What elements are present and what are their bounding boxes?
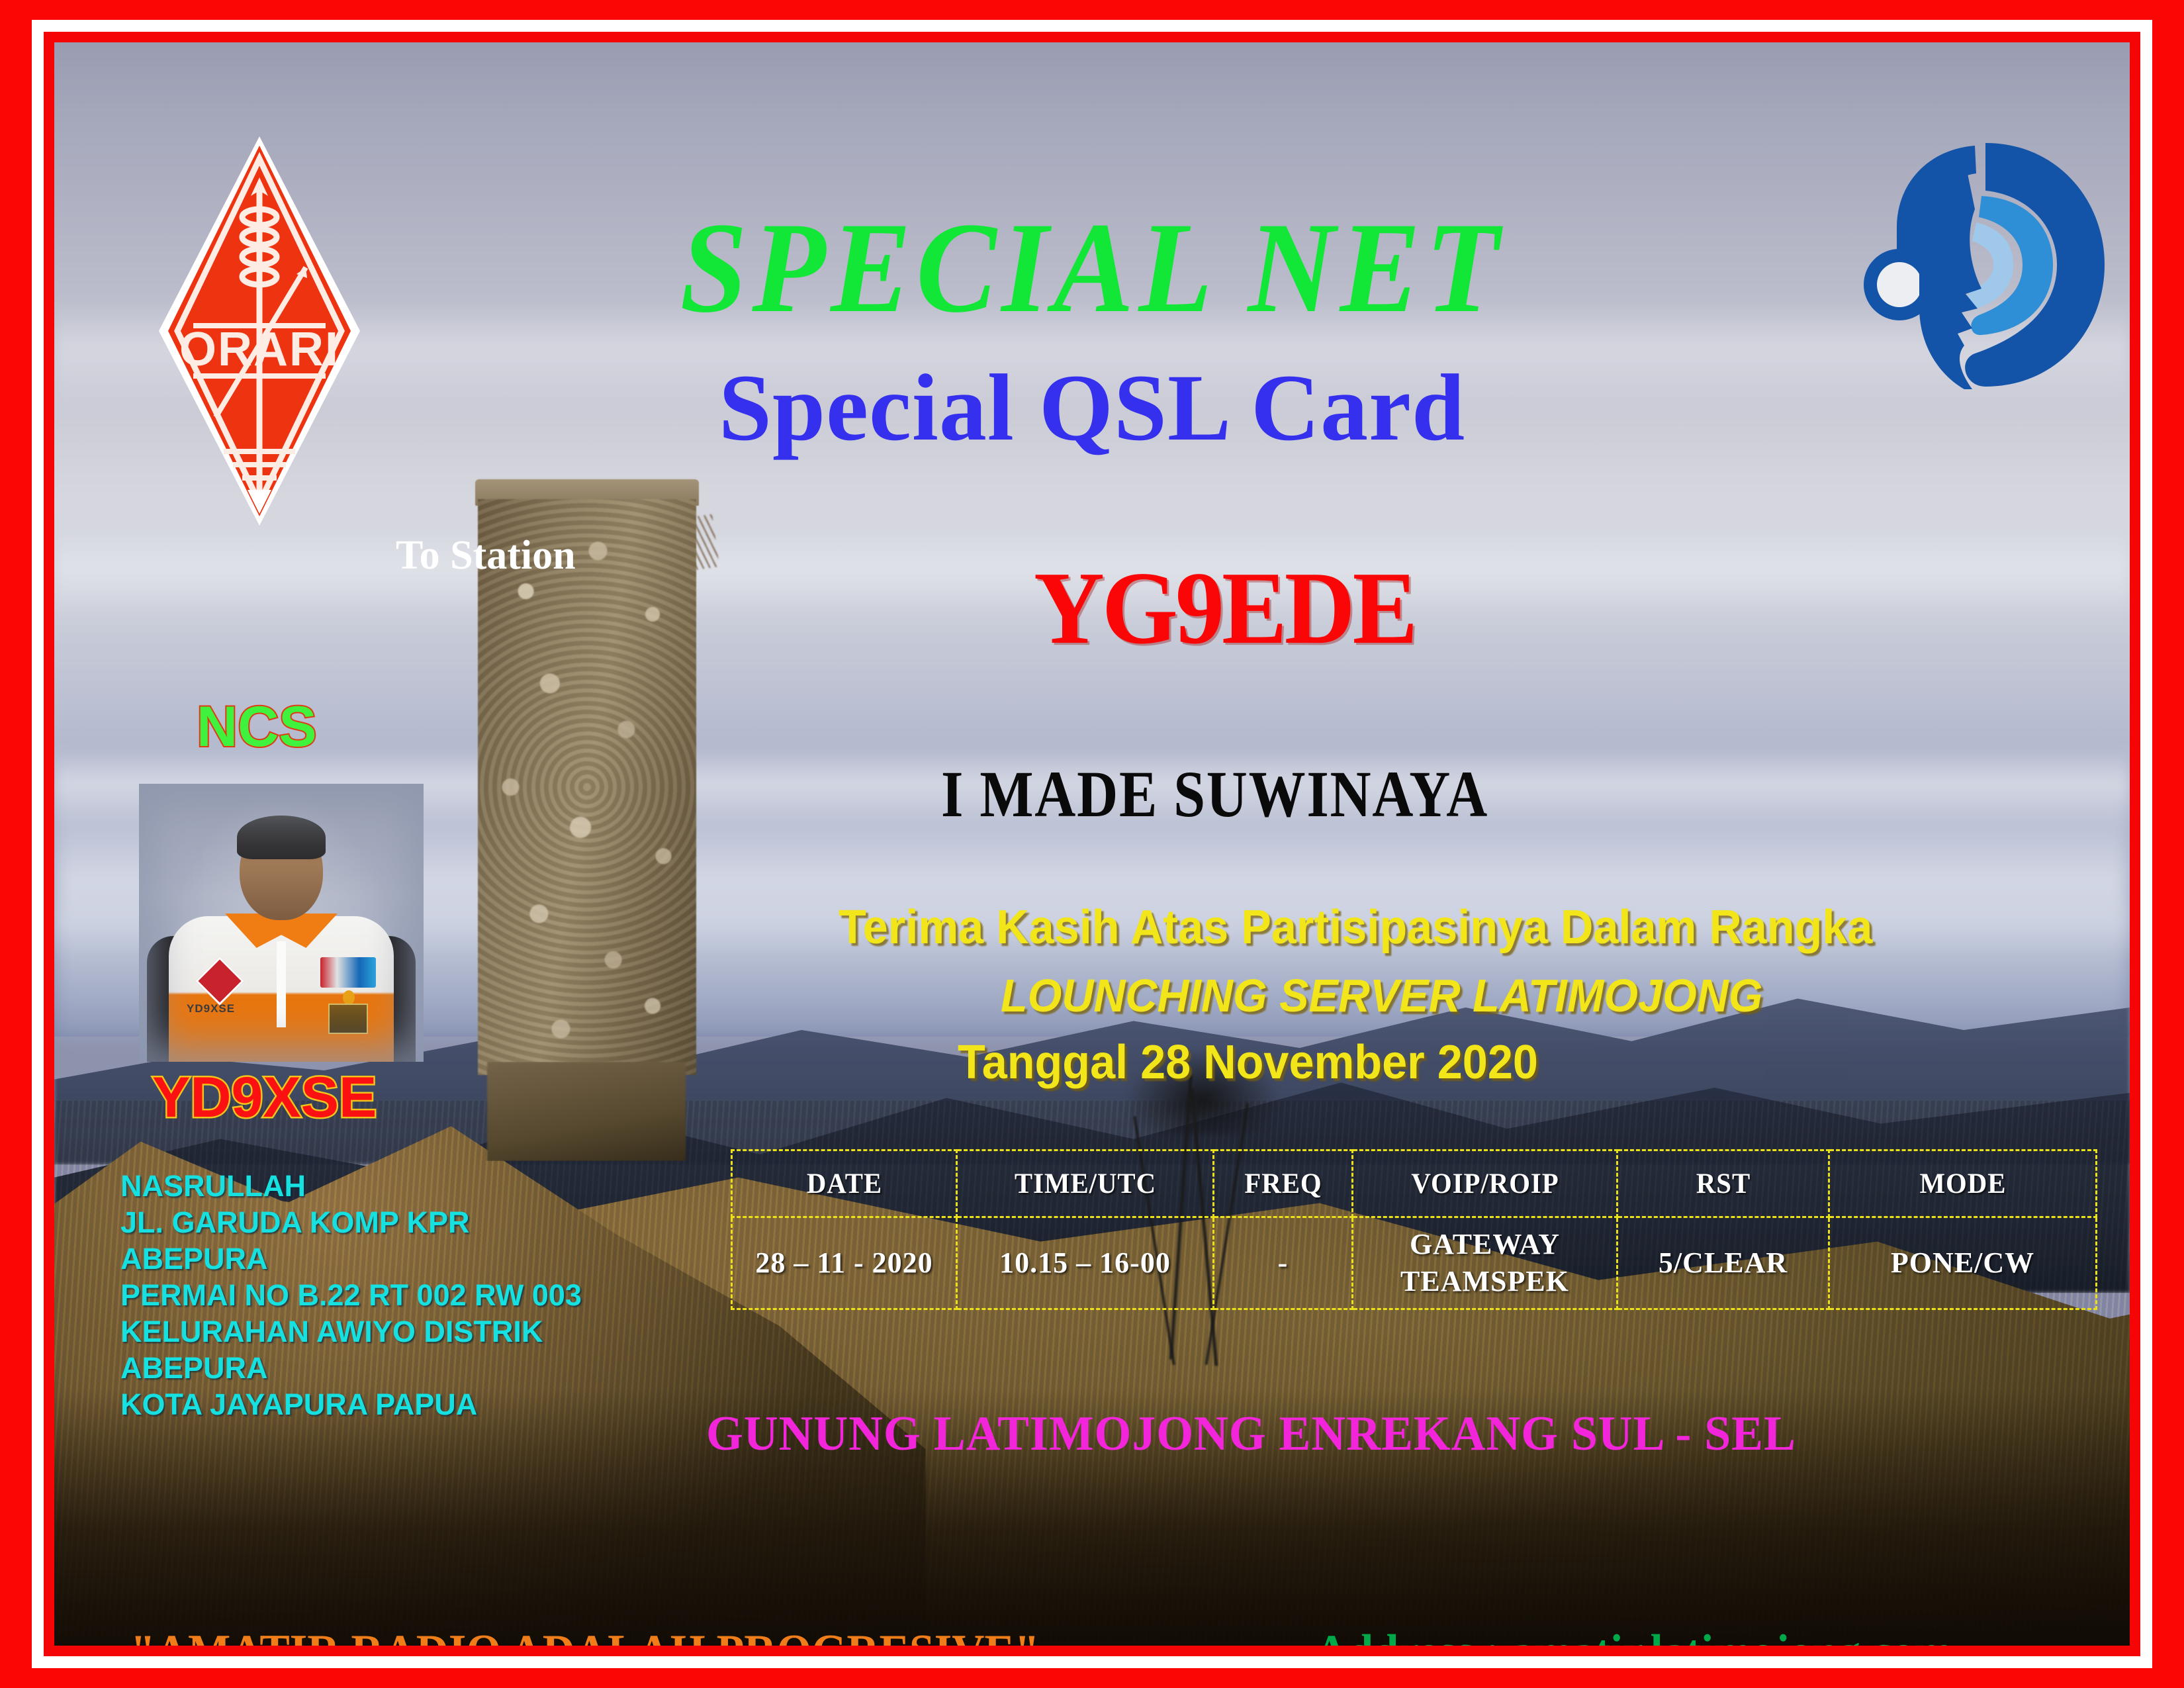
table-header-row: DATE TIME/UTC FREQ VOIP/ROIP RST MODE — [732, 1150, 2097, 1217]
address-line: ABEPURA — [120, 1350, 582, 1386]
ncs-callsign: YD9XSE — [152, 1065, 377, 1131]
ncs-operator-photo: YD9XSE — [139, 784, 424, 1062]
event-line-3: Tanggal 28 November 2020 — [958, 1035, 1538, 1090]
column-header-date: DATE — [737, 1150, 951, 1217]
address-line: JL. GARUDA KOMP KPR — [120, 1204, 582, 1241]
monument-stone-body — [478, 499, 696, 1075]
cell-date: 28 – 11 - 2020 — [732, 1217, 957, 1309]
cell-freq: - — [1214, 1217, 1353, 1309]
ncs-label: NCS — [197, 694, 317, 760]
address-line: NASRULLAH — [120, 1168, 582, 1204]
column-header-voip: VOIP/ROIP — [1359, 1150, 1611, 1217]
station-callsign: YG9EDE — [1034, 549, 1415, 668]
event-line-2: LOUNCHING SERVER LATIMOJONG — [1001, 969, 1762, 1022]
column-header-mode: MODE — [1836, 1150, 2090, 1217]
stone-monument — [478, 479, 696, 1154]
footer-motto: "AMATIR RADIO ADALAH PROGRESIVE" — [130, 1624, 1040, 1646]
card-photo-background: ORARI NCS — [54, 42, 2130, 1646]
cell-voip-line1: GATEWAY — [1410, 1228, 1560, 1260]
column-header-time: TIME/UTC — [963, 1150, 1207, 1217]
cell-mode: PONE/CW — [1829, 1217, 2097, 1309]
address-line: KOTA JAYAPURA PAPUA — [120, 1386, 582, 1423]
address-line: PERMAI NO B.22 RT 002 RW 003 — [120, 1277, 582, 1313]
table-row: 28 – 11 - 2020 10.15 – 16-00 - GATEWAY T… — [732, 1217, 2097, 1309]
footer-address: Address : amatir.latimojong.com — [1315, 1624, 1952, 1646]
cell-rst: 5/CLEAR — [1617, 1217, 1829, 1309]
cell-time: 10.15 – 16-00 — [957, 1217, 1214, 1309]
address-line: ABEPURA — [120, 1241, 582, 1277]
monument-base — [487, 1062, 686, 1161]
address-block: NASRULLAH JL. GARUDA KOMP KPR ABEPURA PE… — [120, 1168, 582, 1423]
operator-name: I MADE SUWINAYA — [941, 756, 1488, 832]
address-line: KELURAHAN AWIYO DISTRIK — [120, 1313, 582, 1350]
column-header-freq: FREQ — [1217, 1150, 1349, 1217]
location-label: GUNUNG LATIMOJONG ENREKANG SUL - SEL — [706, 1406, 1796, 1462]
event-line-1: Terima Kasih Atas Partisipasinya Dalam R… — [839, 900, 1872, 955]
cell-voip: GATEWAY TEAMSPEK — [1353, 1217, 1617, 1309]
column-header-rst: RST — [1623, 1150, 1824, 1217]
qsl-card: ORARI NCS — [0, 0, 2184, 1688]
photo-vignette — [139, 784, 424, 1062]
page-title: SPECIAL NET — [127, 193, 2057, 342]
page-subtitle: Special QSL Card — [54, 353, 2130, 463]
cell-voip-line2: TEAMSPEK — [1400, 1265, 1569, 1297]
qso-log-table: DATE TIME/UTC FREQ VOIP/ROIP RST MODE 28… — [731, 1149, 2097, 1310]
to-station-label: To Station — [396, 532, 576, 579]
